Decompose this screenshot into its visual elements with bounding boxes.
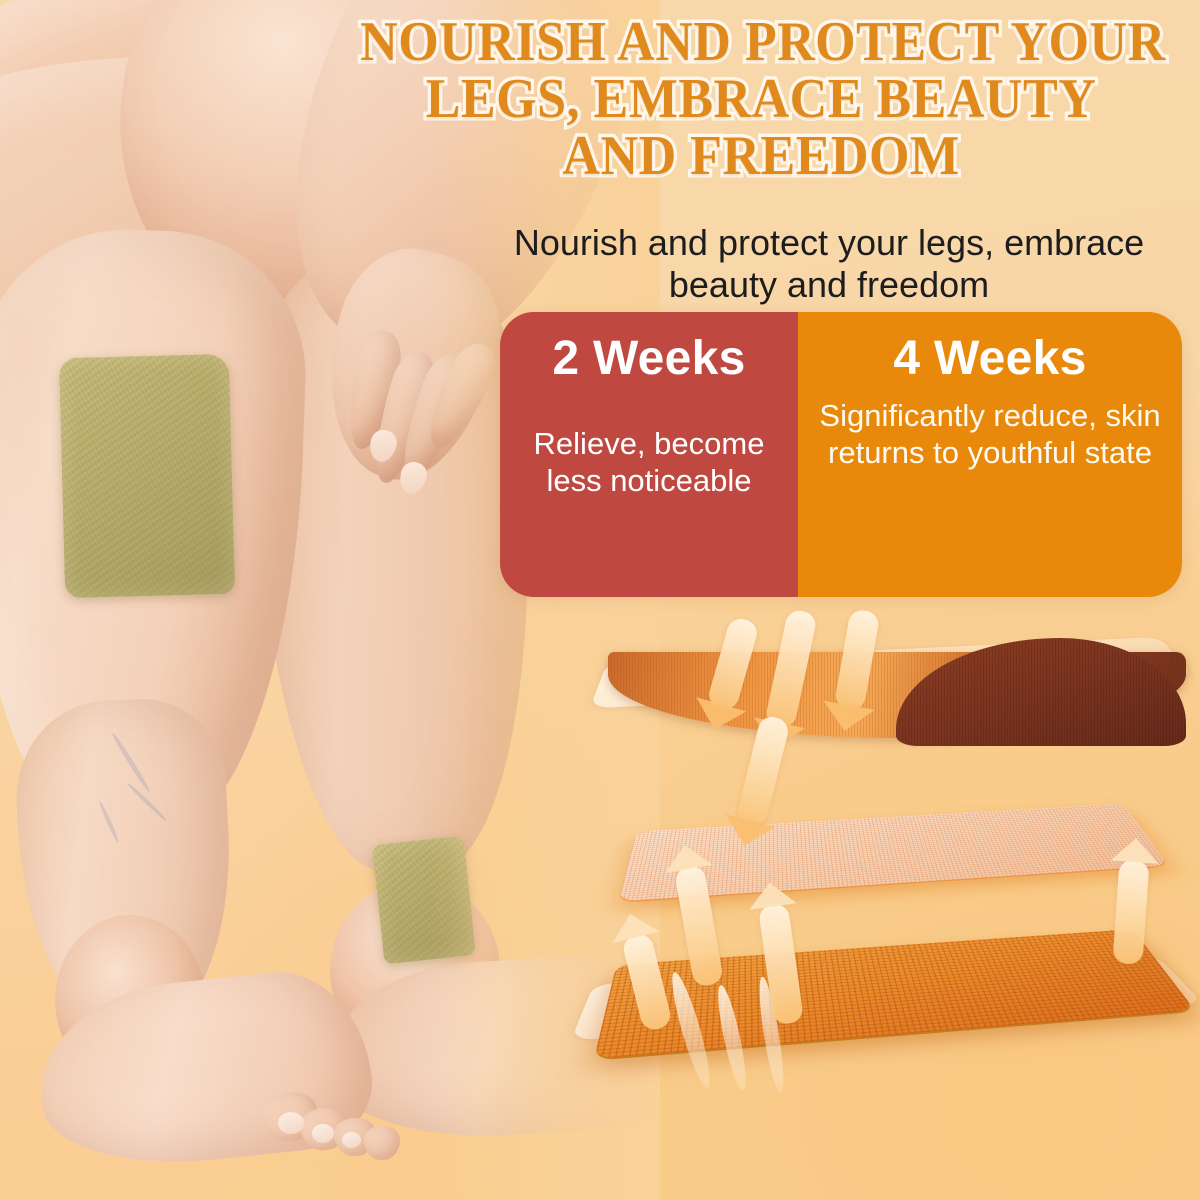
subtitle: Nourish and protect your legs, embrace b… <box>470 222 1188 306</box>
product-banner: NOURISH AND PROTECT YOUR LEGS, EMBRACE B… <box>0 0 1200 1200</box>
toe <box>364 1126 400 1160</box>
thigh-patch <box>59 354 235 598</box>
headline-line-3: AND FREEDOM <box>360 128 1162 185</box>
compare-title-2-weeks: 2 Weeks <box>552 334 745 384</box>
toenail <box>342 1132 361 1148</box>
toenail <box>278 1112 304 1134</box>
toenail <box>312 1124 334 1143</box>
compare-panel-4-weeks: 4 Weeks Significantly reduce, skin retur… <box>798 312 1182 597</box>
compare-panel-2-weeks: 2 Weeks Relieve, become less noticeable <box>500 312 798 597</box>
compare-description-2-weeks: Relieve, become less noticeable <box>514 426 784 499</box>
timeline-comparison-card: 2 Weeks Relieve, become less noticeable … <box>500 312 1182 597</box>
heat-arrow-down-icon <box>735 714 791 828</box>
page-title: NOURISH AND PROTECT YOUR LEGS, EMBRACE B… <box>360 14 1162 185</box>
headline-line-2: LEGS, EMBRACE BEAUTY <box>360 71 1162 128</box>
exploded-patch-diagram <box>596 604 1200 1104</box>
headline-line-1: NOURISH AND PROTECT YOUR <box>360 14 1162 71</box>
compare-description-4-weeks: Significantly reduce, skin returns to yo… <box>812 398 1168 471</box>
compare-title-4-weeks: 4 Weeks <box>893 334 1086 384</box>
